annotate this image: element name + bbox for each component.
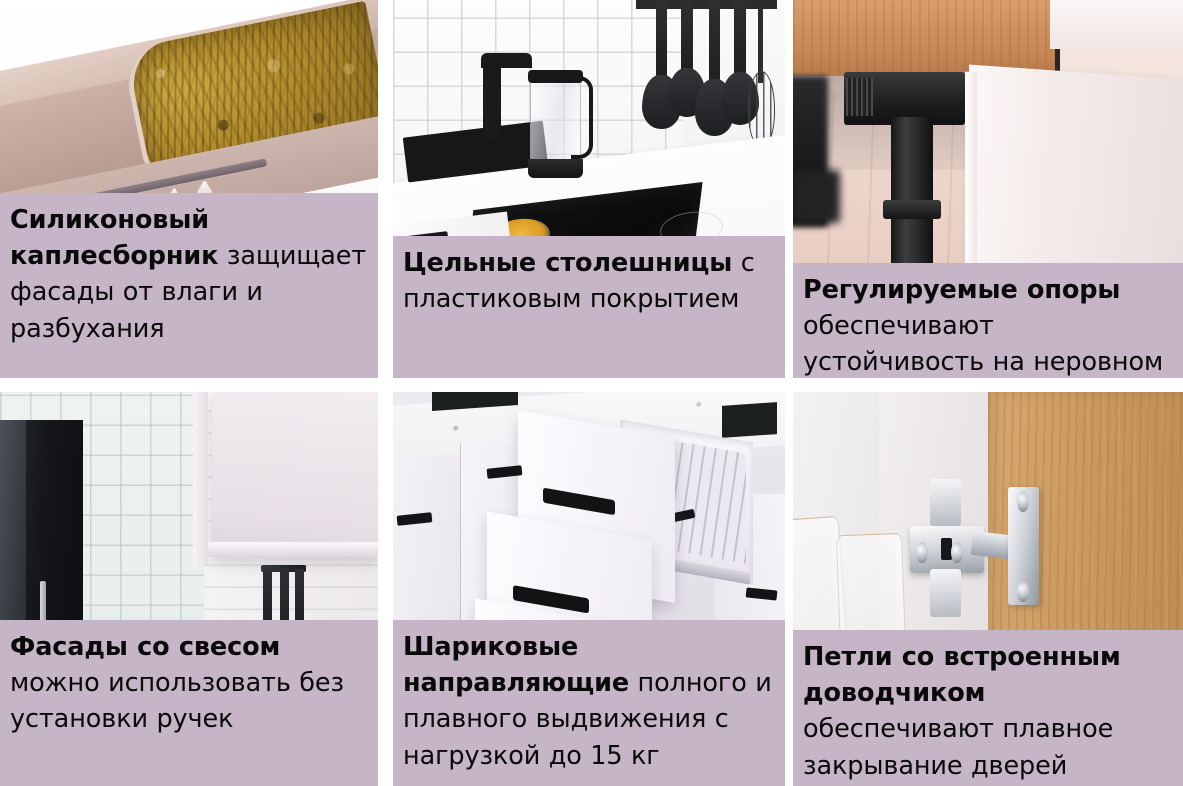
spatula-icon [656, 0, 668, 129]
feature-card-overhang[interactable]: Фасады со свесом можно использовать без … [0, 392, 378, 786]
faucet [481, 53, 532, 68]
caption-dripstop: Силиконовый каплесборник защищает фасады… [0, 193, 378, 378]
caption-overhang: Фасады со свесом можно использовать без … [0, 620, 378, 786]
caption-worktop: Цельные столешницы с пластиковым покрыти… [393, 236, 785, 378]
caption-legs-bold: Регулируемые опоры [803, 275, 1120, 305]
feature-card-hinges[interactable]: Петли со встроенным доводчиком обеспечив… [793, 392, 1183, 786]
feature-card-dripstop[interactable]: Силиконовый каплесборник защищает фасады… [0, 0, 378, 378]
caption-overhang-bold: Фасады со свесом [10, 632, 280, 662]
caption-hinges: Петли со встроенным доводчиком обеспечив… [793, 630, 1183, 786]
caption-slides: Шариковые направляющие полного и плавног… [393, 620, 785, 786]
caption-legs-rest: обеспечивают устойчивость на неровном по… [803, 311, 1163, 378]
caption-dripstop-bold: Силиконовый каплесборник [10, 205, 218, 271]
caption-worktop-bold: Цельные столешницы [403, 248, 732, 278]
feature-card-worktop[interactable]: Цельные столешницы с пластиковым покрыти… [393, 0, 785, 378]
caption-legs: Регулируемые опоры обеспечивают устойчив… [793, 263, 1183, 378]
whisk-icon [748, 4, 773, 148]
upper-cabinet-overhang-front [212, 392, 378, 557]
spoon-icon [734, 0, 746, 125]
caption-hinges-bold: Петли со встроенным доводчиком [803, 642, 1121, 708]
turner-icon [709, 0, 721, 136]
ladle-icon [681, 0, 693, 117]
feature-card-slides[interactable]: Шариковые направляющие полного и плавног… [393, 392, 785, 786]
feature-card-legs[interactable]: Регулируемые опоры обеспечивают устойчив… [793, 0, 1183, 378]
caption-hinges-rest: обеспечивают плавное закрывание дверей [803, 714, 1113, 780]
caption-slides-bold: Шариковые направляющие [403, 632, 629, 698]
screw-icon [1017, 491, 1029, 512]
caption-overhang-rest: можно использовать без установки ручек [10, 668, 344, 734]
feature-grid: Силиконовый каплесборник защищает фасады… [0, 0, 1183, 786]
